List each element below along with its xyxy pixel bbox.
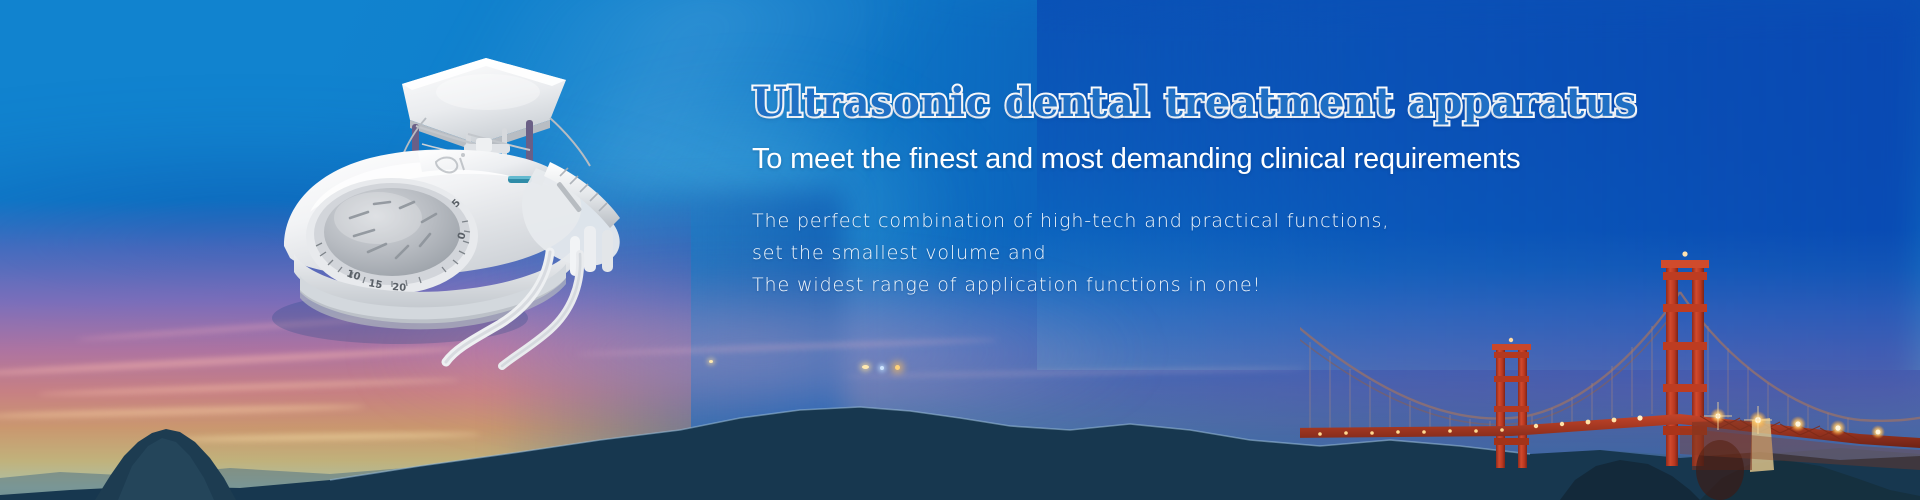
subheadline: To meet the finest and most demanding cl… [752,142,1572,177]
product-image-ultrasonic-scaler: 0 5 10 15 20 [250,40,630,370]
body-line-2: set the smallest volume and [752,237,1572,269]
holder-post [584,226,596,272]
holder-post [602,230,613,272]
suspension-cable [1680,292,1920,421]
ridge-light [880,366,884,370]
body-copy: The perfect combination of high-tech and… [752,205,1572,301]
promo-banner: 0 5 10 15 20 [0,0,1920,500]
banner-copy: Ultrasonic dental treatment apparatus To… [752,82,1572,301]
ridge-light [895,365,900,370]
indicator-highlight [508,176,532,179]
dial-gloss [334,192,422,244]
scaler-tip [550,118,590,166]
suspension-cable [1300,292,1680,419]
body-line-3: The widest range of application function… [752,269,1572,301]
power-dial [306,178,478,294]
handpiece-assembly [522,162,620,276]
suspender-ropes-near [1708,326,1848,433]
page-title: Ultrasonic dental treatment apparatus [752,82,1572,124]
ridge-light [862,365,869,369]
suspension-cable-secondary [1300,304,1680,425]
canopy-gloss [436,74,540,110]
suspender-ropes [1310,326,1652,428]
body-line-1: The perfect combination of high-tech and… [752,205,1572,237]
ridge-light [709,360,713,363]
bridge-tower-far [1492,338,1531,468]
